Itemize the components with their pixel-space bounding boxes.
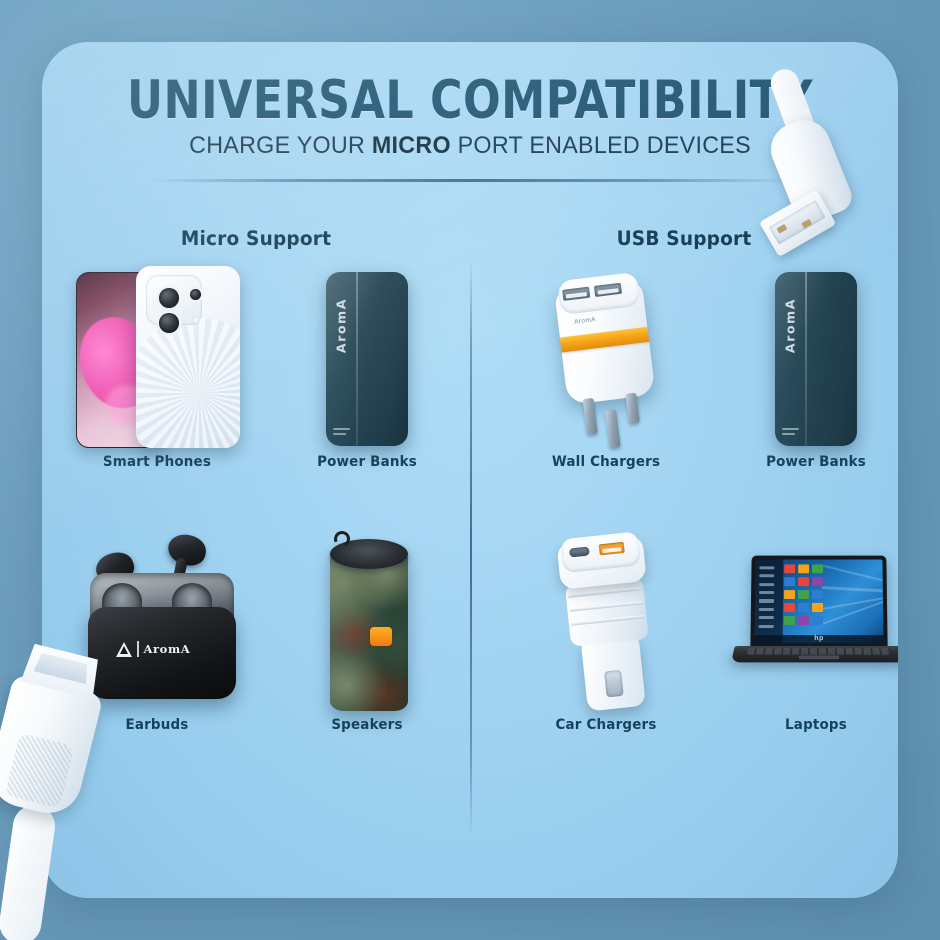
- product-label: Power Banks: [713, 454, 898, 470]
- smartphone-illustration: [50, 264, 264, 454]
- product-cell-power-banks-micro: AromA Power Banks: [260, 264, 474, 470]
- laptop-illustration: hp: [709, 527, 898, 717]
- plug-pin-icon: [625, 393, 640, 424]
- product-label: Wall Chargers: [503, 454, 708, 470]
- product-label: Speakers: [264, 717, 469, 733]
- windows-desktop-wallpaper: [754, 560, 883, 644]
- product-label: Smart Phones: [54, 454, 259, 470]
- product-label: Laptops: [713, 717, 898, 733]
- start-menu-tiles: [784, 564, 823, 624]
- start-menu-panel: [754, 560, 783, 644]
- phone-back-icon: [136, 266, 240, 448]
- plug-pin-icon: [605, 409, 621, 448]
- column-header-micro: Micro Support: [53, 227, 460, 250]
- plug-pin-icon: [583, 398, 598, 435]
- subtitle-emphasis: MICRO: [372, 132, 451, 159]
- car-charger-icon: [540, 525, 675, 720]
- power-bank-illustration: AromA: [260, 264, 474, 454]
- speaker-icon: [326, 531, 412, 713]
- product-cell-power-banks-usb: AromA Power Banks: [709, 264, 898, 470]
- product-cell-wall-chargers: AromA Wall Chargers: [499, 264, 713, 470]
- earbuds-brand-mark: AromA: [116, 641, 190, 657]
- laptop-icon: hp: [733, 555, 898, 685]
- laptop-screen: hp: [750, 556, 887, 648]
- speaker-illustration: [260, 527, 474, 717]
- product-cell-speakers: Speakers: [260, 527, 474, 733]
- earbud-right-icon: [165, 531, 208, 568]
- power-bank-icon: AromA: [326, 272, 408, 446]
- subtitle-text-before: CHARGE YOUR: [189, 132, 372, 159]
- product-label: Power Banks: [264, 454, 469, 470]
- product-cell-car-chargers: Car Chargers: [499, 527, 713, 733]
- trackpad-icon: [799, 655, 840, 659]
- keyboard-icon: [747, 648, 891, 655]
- wall-charger-illustration: AromA: [499, 264, 713, 454]
- product-cell-laptops: hp Laptops: [709, 527, 898, 733]
- speaker-badge-icon: [370, 627, 392, 646]
- camera-module-icon: [146, 275, 202, 325]
- product-label: Car Chargers: [503, 717, 708, 733]
- product-cell-smart-phones: Smart Phones: [50, 264, 264, 470]
- laptop-brand-mark: hp: [814, 636, 824, 643]
- wall-charger-icon: AromA: [540, 264, 673, 456]
- laptop-base: [731, 646, 898, 662]
- power-bank-illustration: AromA: [709, 264, 898, 454]
- car-charger-contact-icon: [604, 670, 624, 698]
- car-charger-illustration: [499, 527, 713, 717]
- header-divider: [150, 179, 790, 182]
